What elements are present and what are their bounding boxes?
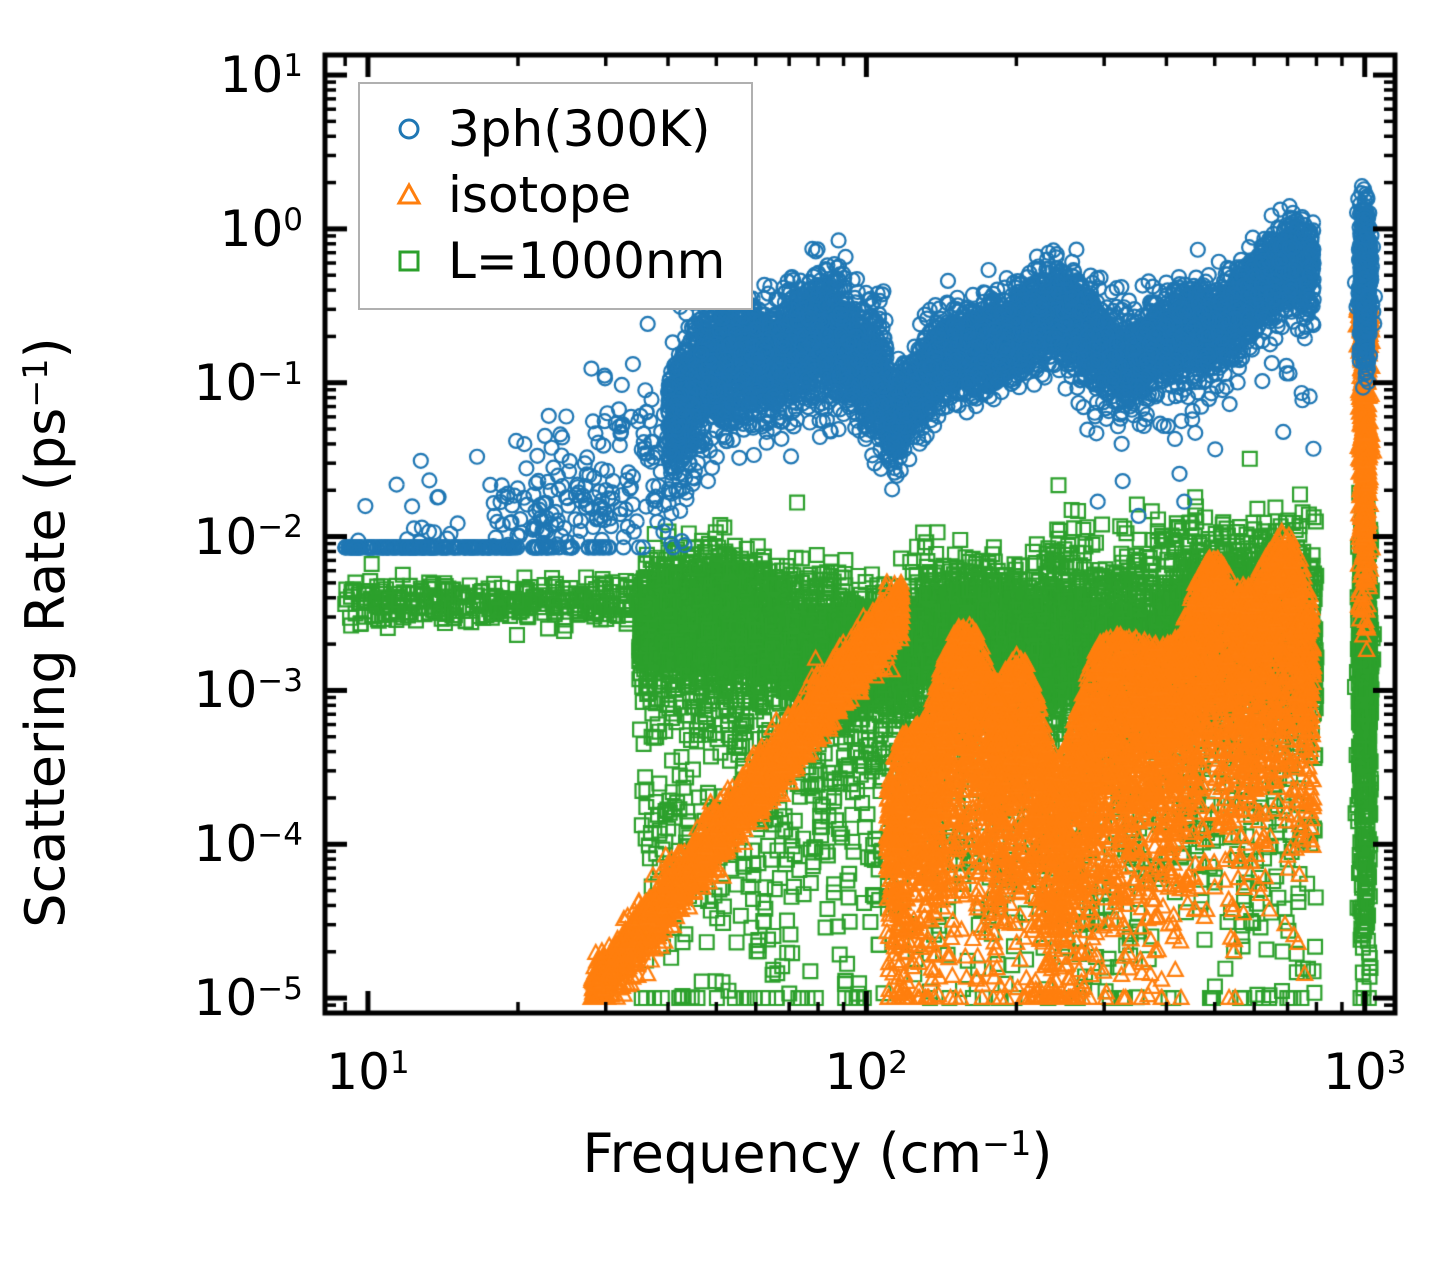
legend-item-boundary: L=1000nm <box>380 228 725 294</box>
y-axis-label-base: Scattering Rate (ps <box>14 408 77 928</box>
legend-item-3ph: 3ph(300K) <box>380 96 725 162</box>
y-axis-label-tail: ) <box>14 337 77 358</box>
y-tick-label: 10−5 <box>194 969 303 1027</box>
scatter-plot-figure: Frequency (cm−1) Scattering Rate (ps−1) … <box>0 0 1455 1265</box>
y-tick-label: 100 <box>220 200 303 258</box>
legend: 3ph(300K) isotope L=1000nm <box>358 82 753 310</box>
x-tick-label: 102 <box>825 1043 908 1101</box>
triangle-open-icon <box>380 180 438 210</box>
y-axis-label-exponent: −1 <box>16 358 55 407</box>
legend-label-3ph: 3ph(300K) <box>438 100 710 158</box>
y-tick-label: 10−3 <box>194 661 303 719</box>
y-tick-label: 10−4 <box>194 815 303 873</box>
square-open-icon <box>380 246 438 276</box>
legend-label-boundary: L=1000nm <box>438 232 725 290</box>
y-tick-label: 101 <box>220 46 303 104</box>
y-axis-label: Scattering Rate (ps−1) <box>0 0 92 1265</box>
x-tick-label: 103 <box>1323 1043 1406 1101</box>
x-axis-label-tail: ) <box>1031 1122 1052 1185</box>
x-axis-label-exponent: −1 <box>982 1124 1031 1163</box>
x-tick-label: 101 <box>326 1043 409 1101</box>
x-axis-label: Frequency (cm−1) <box>0 1122 1455 1185</box>
y-tick-label: 10−1 <box>194 354 303 412</box>
legend-label-isotope: isotope <box>438 166 631 224</box>
legend-item-isotope: isotope <box>380 162 725 228</box>
y-tick-label: 10−2 <box>194 508 303 566</box>
x-axis-label-base: Frequency (cm <box>583 1122 983 1185</box>
circle-open-icon <box>380 114 438 144</box>
